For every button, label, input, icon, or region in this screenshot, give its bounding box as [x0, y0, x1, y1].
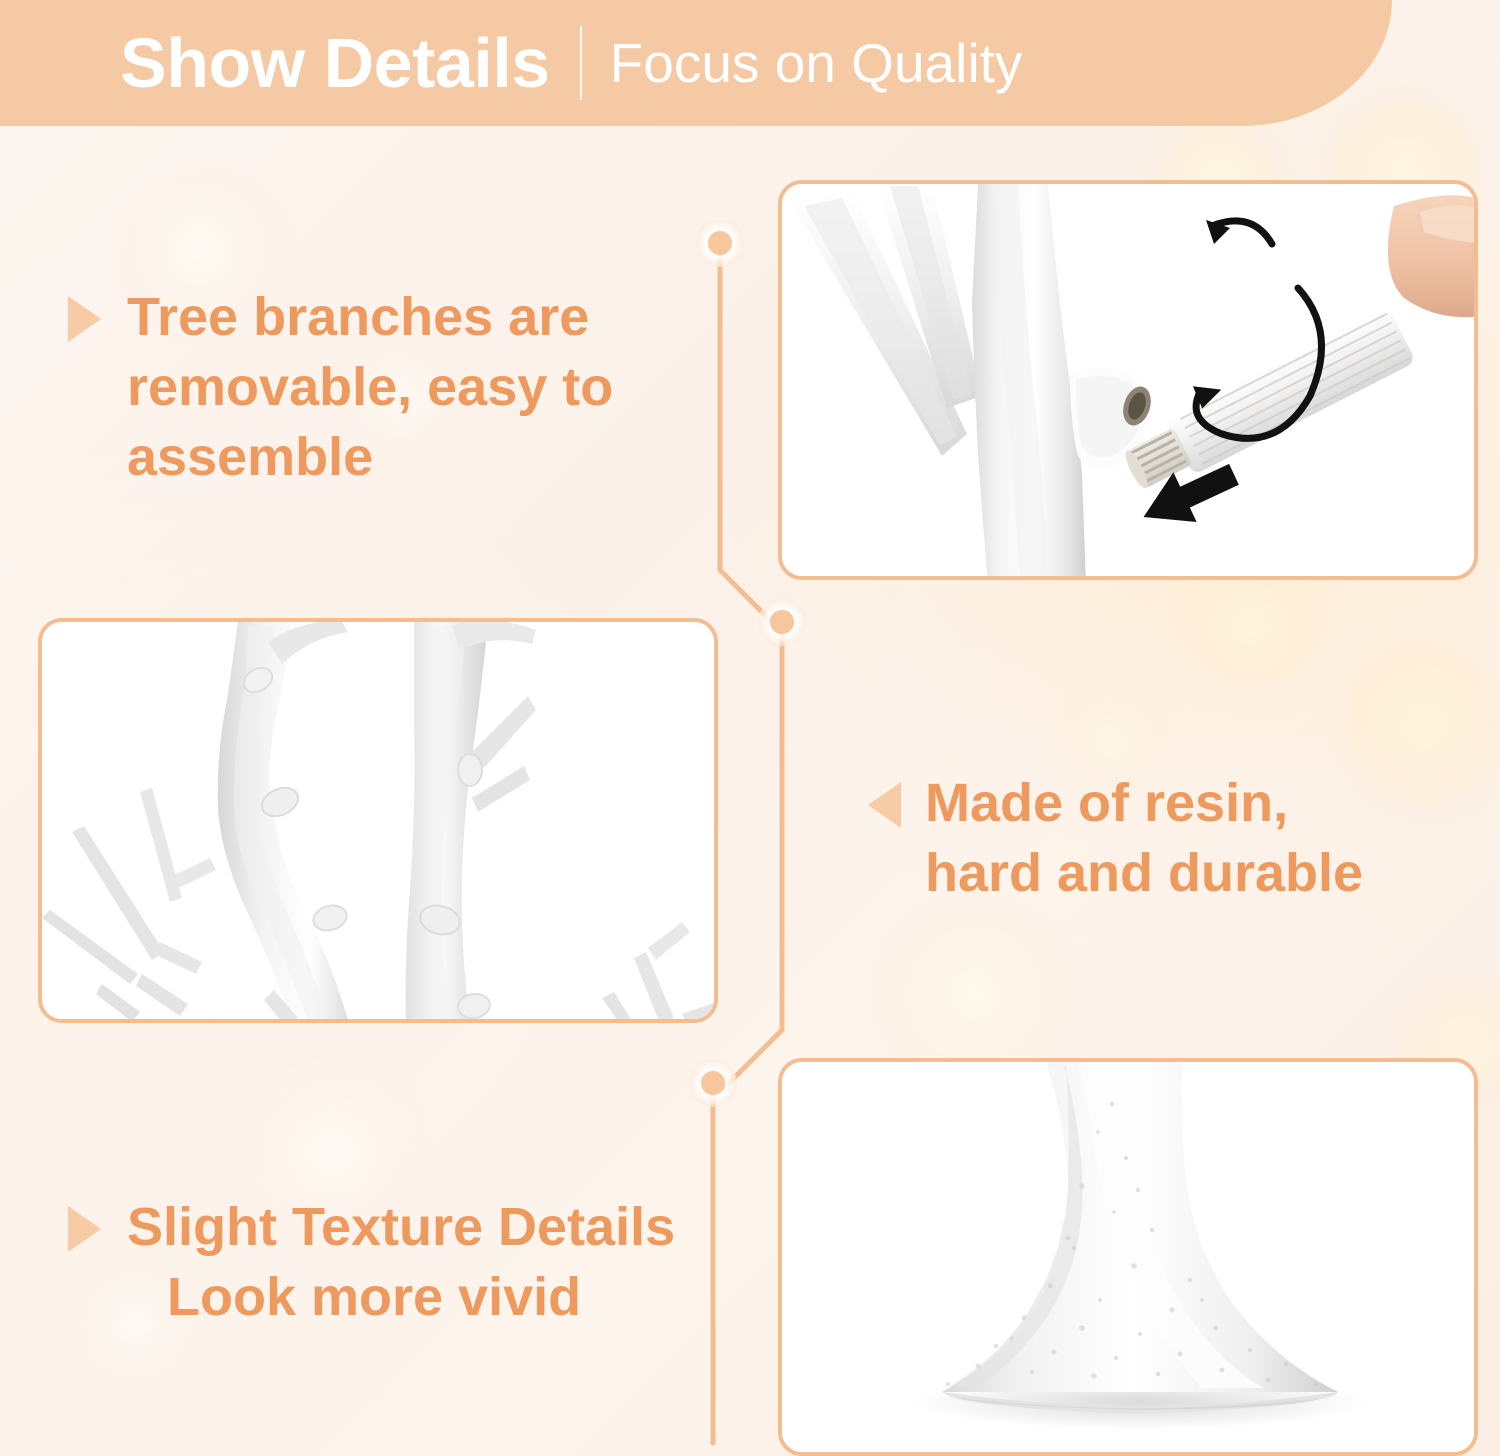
- callout-texture-details-text: Slight Texture Details Look more vivid: [127, 1192, 675, 1332]
- callout-texture-details: Slight Texture Details Look more vivid: [68, 1192, 675, 1332]
- panel-base-photo: [778, 1058, 1478, 1456]
- panel-branch-texture-photo: [38, 618, 718, 1023]
- callout-line: hard and durable: [925, 838, 1363, 908]
- callout-line: Slight Texture Details: [127, 1192, 675, 1262]
- triangle-right-icon: [68, 296, 101, 342]
- page-header: Show Details Focus on Quality: [0, 0, 1392, 126]
- callout-made-of-resin-text: Made of resin, hard and durable: [925, 768, 1363, 908]
- callout-line: removable, easy to: [127, 352, 613, 422]
- triangle-right-icon: [68, 1206, 101, 1252]
- page-title: Show Details: [120, 28, 550, 98]
- infographic-page: Show Details Focus on Quality: [0, 0, 1500, 1456]
- panel-assembly-photo: [778, 180, 1478, 580]
- callout-line: Tree branches are: [127, 282, 613, 352]
- connector-node-bottom: [689, 1059, 737, 1107]
- callout-branches-removable-text: Tree branches are removable, easy to ass…: [127, 282, 613, 493]
- connector-node-middle: [758, 598, 806, 646]
- callout-made-of-resin: Made of resin, hard and durable: [868, 768, 1363, 908]
- triangle-left-icon: [868, 782, 901, 828]
- callout-line: assemble: [127, 422, 613, 492]
- connector-node-top: [696, 219, 744, 267]
- callout-branches-removable: Tree branches are removable, easy to ass…: [68, 282, 613, 493]
- assembly-photo-image: [782, 184, 1474, 576]
- callout-line: Made of resin,: [925, 768, 1363, 838]
- callout-line: Look more vivid: [127, 1262, 675, 1332]
- base-photo-image: [782, 1062, 1474, 1452]
- vertical-divider-icon: [580, 26, 582, 100]
- page-subtitle: Focus on Quality: [610, 36, 1023, 91]
- branch-texture-photo-image: [42, 622, 714, 1019]
